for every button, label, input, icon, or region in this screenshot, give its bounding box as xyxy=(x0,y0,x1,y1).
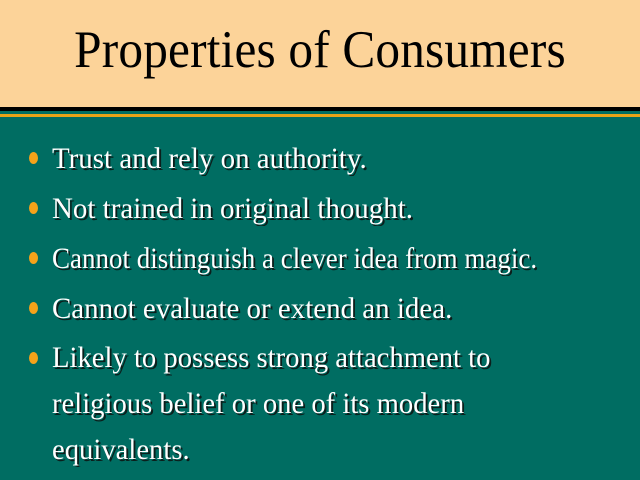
slide-body: Trust and rely on authority. Not trained… xyxy=(0,117,640,480)
bullet-dot-icon xyxy=(29,252,38,264)
slide-title: Properties of Consumers xyxy=(22,0,617,107)
bullet-list: Trust and rely on authority. Not trained… xyxy=(26,135,620,473)
bullet-list-item: Likely to possess strong attachment to r… xyxy=(26,335,582,473)
bullet-text: Likely to possess strong attachment to r… xyxy=(52,335,558,473)
presentation-slide: Properties of Consumers Trust and rely o… xyxy=(0,0,640,480)
bullet-list-item: Cannot distinguish a clever idea from ma… xyxy=(26,235,620,282)
bullet-list-item: Cannot evaluate or extend an idea. xyxy=(26,285,620,332)
bullet-dot-icon xyxy=(29,302,38,314)
bullet-dot-icon xyxy=(29,202,38,214)
bullet-dot-icon xyxy=(29,152,38,164)
bullet-dot-icon xyxy=(29,352,38,364)
bullet-text: Trust and rely on authority. xyxy=(52,135,367,182)
bullet-list-item: Trust and rely on authority. xyxy=(26,135,620,182)
bullet-text: Not trained in original thought. xyxy=(52,185,413,232)
slide-title-band: Properties of Consumers xyxy=(0,0,640,107)
bullet-text: Cannot evaluate or extend an idea. xyxy=(52,285,452,332)
bullet-list-item: Not trained in original thought. xyxy=(26,185,620,232)
bullet-text: Cannot distinguish a clever idea from ma… xyxy=(52,235,537,282)
